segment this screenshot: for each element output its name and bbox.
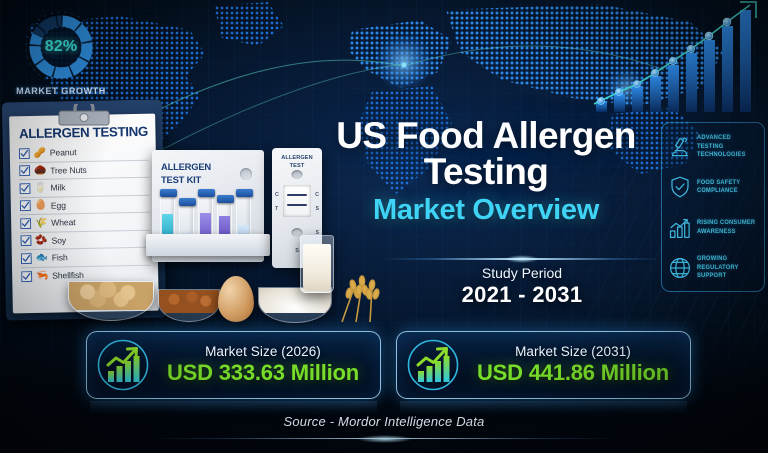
kit-box-hole [240, 168, 252, 180]
cassette-title: ALLERGENTEST [272, 155, 322, 171]
market-size-value: USD 333.63 Million [150, 360, 376, 386]
title-subtitle: Market Overview [300, 194, 672, 227]
checkbox-checked-icon[interactable] [20, 200, 31, 211]
feature-label: RISING CONSUMER AWARENESS [697, 219, 756, 236]
divider-below-source [150, 438, 620, 439]
egg-prop [218, 276, 254, 322]
milk-glass-prop [300, 235, 334, 293]
growth-chart-icon [96, 338, 150, 392]
feature-label: GROWING REGULATORY SUPPORT [697, 255, 756, 281]
allergen-name: Shellfish [52, 270, 84, 281]
growth-bar-chart [590, 0, 766, 112]
checkbox-checked-icon[interactable] [19, 148, 30, 159]
checkbox-checked-icon[interactable] [19, 165, 30, 176]
gauge-value: 82% [24, 10, 98, 84]
bar-chart-growth-icon [667, 215, 693, 241]
tree-nuts-icon: 🌰 [34, 164, 46, 177]
wheat-stalks-prop [332, 272, 388, 322]
feature-label: ADVANCED TESTING TECHNOLOGIES [697, 134, 756, 160]
vial-rack [146, 234, 270, 256]
milk-icon: 🥛 [34, 181, 46, 194]
market-size-label: Market Size (2026) [150, 344, 376, 359]
key-drivers-panel: ADVANCED TESTING TECHNOLOGIES FOOD SAFET… [661, 122, 765, 292]
cassette-mark-s: S [315, 206, 319, 212]
egg-icon: 🥚 [35, 199, 47, 212]
milk [303, 244, 331, 291]
globe-icon [667, 255, 693, 281]
growth-chart-icon [406, 338, 460, 392]
feature-advanced-testing-technologies[interactable]: ADVANCED TESTING TECHNOLOGIES [667, 128, 760, 166]
wheat-icon: 🌾 [35, 216, 47, 229]
microscope-icon [667, 134, 693, 160]
market-size-2026-card[interactable]: Market Size (2026) USD 333.63 Million [86, 331, 381, 399]
allergen-name: Milk [50, 183, 65, 193]
cassette-mark-c2: C [315, 192, 319, 198]
clipboard-title: ALLERGEN TESTING [18, 124, 148, 141]
checkbox-checked-icon[interactable] [20, 218, 31, 229]
page-title: US Food Allergen Testing Market Overview [300, 118, 672, 227]
study-period-label: Study Period [382, 265, 662, 281]
kit-box-title: ALLERGENTEST KIT [161, 161, 211, 186]
allergen-name: Tree Nuts [50, 165, 87, 176]
control-band [287, 194, 307, 196]
vial-cap [198, 189, 215, 197]
allergen-name: Peanut [50, 147, 77, 158]
market-size-label: Market Size (2031) [460, 344, 686, 359]
feature-growing-regulatory-support[interactable]: GROWING REGULATORY SUPPORT [667, 249, 760, 287]
cassette-sample-hole [292, 170, 303, 179]
cassette-mark-c: C [275, 192, 279, 198]
allergen-name: Fish [52, 253, 68, 263]
soy-icon: 🫘 [35, 234, 47, 247]
divider-above-study-period [382, 258, 662, 260]
study-period: Study Period 2021 - 2031 [382, 265, 662, 308]
market-size-value: USD 441.86 Million [460, 360, 686, 386]
checkbox-checked-icon[interactable] [21, 271, 32, 282]
peanuts [69, 282, 153, 310]
title-line-1: US Food Allergen [300, 118, 672, 154]
test-band [287, 204, 307, 206]
clipboard-clip-icon [55, 104, 113, 126]
checkbox-checked-icon[interactable] [21, 253, 32, 264]
gauge-label: MARKET GROWTH [6, 86, 116, 96]
checkbox-checked-icon[interactable] [19, 183, 30, 194]
feature-rising-consumer-awareness[interactable]: RISING CONSUMER AWARENESS [667, 209, 760, 247]
feature-food-safety-compliance[interactable]: FOOD SAFETY COMPLIANCE [667, 168, 760, 206]
shield-check-icon [667, 174, 693, 200]
peanut-icon: 🥜 [34, 146, 46, 159]
cassette-mark-s3: S [295, 248, 299, 254]
allergen-name: Egg [51, 200, 66, 210]
fish-icon: 🐟 [36, 251, 48, 264]
vial-cap [236, 189, 253, 197]
allergen-name: Soy [51, 235, 66, 245]
vial-cap [160, 189, 177, 197]
vial-cap [179, 198, 196, 206]
infographic-canvas: 82% MARKET GROWTH US Food Allergen Testi… [0, 0, 768, 453]
cassette-mark-t: T [275, 206, 278, 212]
market-growth-gauge: 82% MARKET GROWTH [6, 6, 116, 104]
title-line-2: Testing [300, 154, 672, 190]
shellfish-icon: 🦐 [36, 269, 48, 282]
cassette-result-window [283, 185, 311, 217]
checkbox-checked-icon[interactable] [20, 235, 31, 246]
vial-cap [217, 195, 234, 203]
study-period-years: 2021 - 2031 [382, 282, 662, 308]
allergen-name: Wheat [51, 217, 76, 227]
feature-label: FOOD SAFETY COMPLIANCE [697, 179, 756, 196]
source-attribution: Source - Mordor Intelligence Data [0, 414, 768, 429]
almonds [159, 290, 219, 313]
market-size-2031-card[interactable]: Market Size (2031) USD 441.86 Million [396, 331, 691, 399]
